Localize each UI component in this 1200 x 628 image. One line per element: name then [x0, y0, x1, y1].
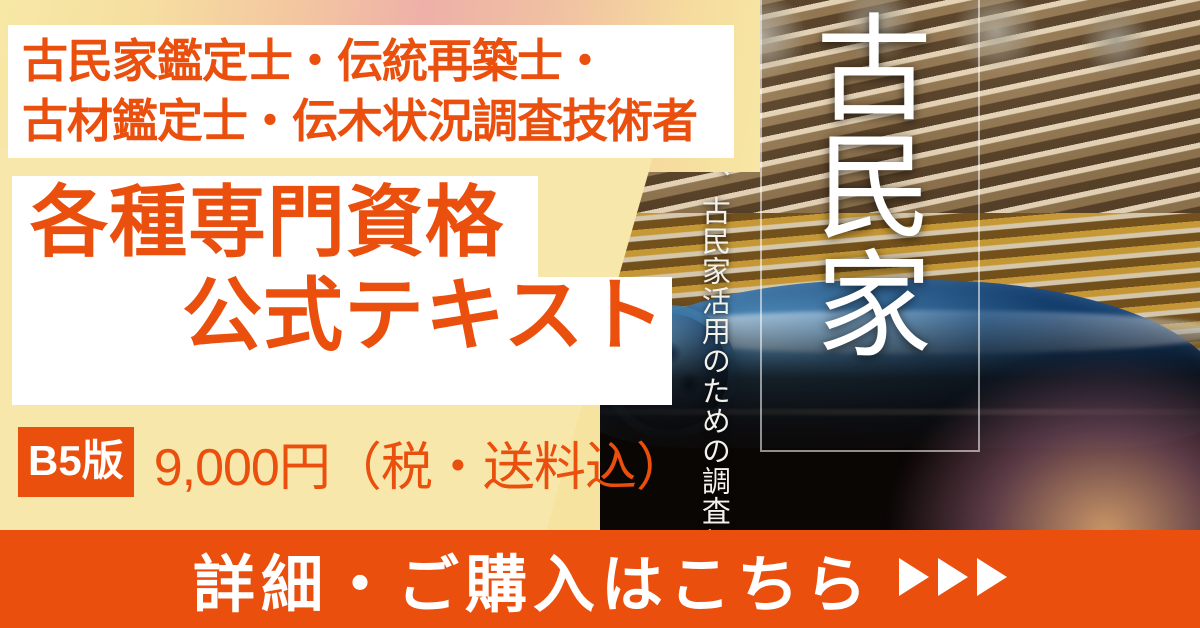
triple-arrow-right-icon: [899, 558, 1007, 596]
headline-line-2: 古材鑑定士・伝木状況調査技術者: [22, 92, 734, 152]
headline-panel: 古民家鑑定士・伝統再築士・ 古材鑑定士・伝木状況調査技術者: [8, 25, 734, 158]
title-line-1: 各種専門資格: [30, 180, 504, 266]
cta-button[interactable]: 詳細・ご購入はこちら: [0, 530, 1200, 628]
cta-label: 詳細・ご購入はこちら: [193, 534, 873, 624]
arrow-right-icon-3: [977, 558, 1007, 596]
book-cover-title: 古民家: [786, 8, 936, 362]
price-row: B5版 9,000円（税・送料込）: [18, 428, 687, 496]
size-badge: B5版: [18, 427, 134, 497]
price-text: 9,000円（税・送料込）: [154, 425, 687, 500]
arrow-right-icon-1: [899, 558, 929, 596]
headline-line-1: 古民家鑑定士・伝統再築士・: [22, 32, 734, 92]
arrow-right-icon-2: [938, 558, 968, 596]
title-line-2: 公式テキスト: [182, 272, 666, 360]
promo-banner: 古民家 伝統構法、古民家活用のための調査と再生の 古民家鑑定士・伝統再築士・ 古…: [0, 0, 1200, 628]
